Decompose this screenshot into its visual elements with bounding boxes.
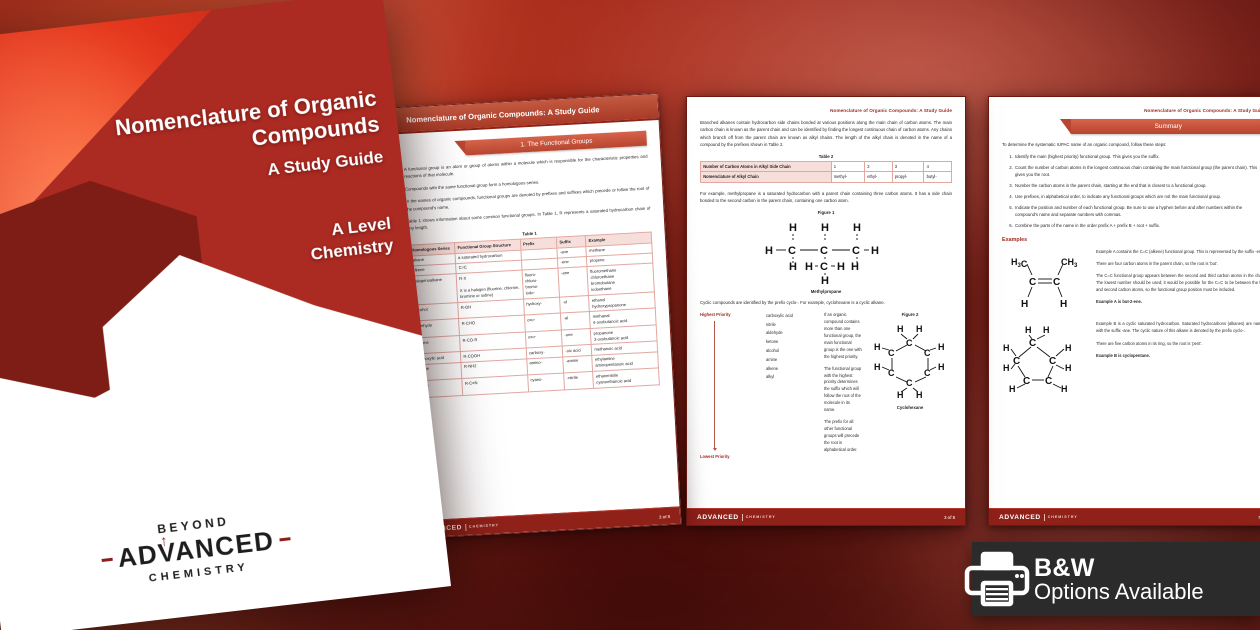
page-number: 2 of 8 bbox=[659, 513, 670, 519]
svg-text:H: H bbox=[916, 324, 923, 334]
footer-logo-divider bbox=[465, 523, 466, 530]
summary-step: Identify the main (highest priority) fun… bbox=[1014, 153, 1260, 160]
svg-text:C: C bbox=[1049, 356, 1056, 367]
example-a-row: H3C CH3 C C H H Example bbox=[1002, 248, 1260, 310]
priority-item: amine bbox=[766, 356, 818, 365]
printer-icon bbox=[964, 550, 1030, 608]
svg-text:H: H bbox=[789, 222, 797, 234]
svg-text:C: C bbox=[888, 368, 895, 378]
table-alkyl-prefixes: Number of Carbon Atoms in Alkyl Side Cha… bbox=[700, 161, 952, 183]
table2-caption: Table 2 bbox=[700, 154, 952, 159]
svg-text:H: H bbox=[789, 261, 797, 273]
footer-logo: ADVANCED CHEMISTRY bbox=[697, 514, 776, 521]
table-cell: 3 bbox=[892, 162, 924, 172]
svg-text:C: C bbox=[906, 378, 913, 388]
footer-logo-sub: CHEMISTRY bbox=[746, 515, 776, 519]
example-b-para: Example B is a cyclic saturated hydrocar… bbox=[1096, 320, 1260, 334]
promo-banner: Nomenclature of Organic Compounds: A Stu… bbox=[0, 0, 1260, 630]
figure2-caption: Figure 2 bbox=[868, 312, 952, 317]
page-number: 3 of 8 bbox=[944, 515, 955, 520]
footer-logo: ADVANCED CHEMISTRY bbox=[999, 514, 1078, 521]
priority-item: nitrile bbox=[766, 321, 818, 330]
priority-item: alkyl bbox=[766, 373, 818, 382]
svg-text:C: C bbox=[1023, 376, 1030, 387]
svg-text:H: H bbox=[1061, 384, 1068, 394]
svg-text:H: H bbox=[851, 261, 859, 273]
table-functional-groups: Homologous Series Functional Group Struc… bbox=[408, 232, 660, 398]
table-cell: cyano- bbox=[527, 373, 564, 391]
svg-text:C: C bbox=[852, 245, 860, 257]
priority-section: Highest Priority Lowest Priority carboxy… bbox=[700, 312, 952, 459]
priority-item: ketone bbox=[766, 338, 818, 347]
summary-step: Count the number of carbon atoms in the … bbox=[1014, 164, 1260, 179]
table-cell: propyl- bbox=[892, 172, 924, 182]
svg-text:H: H bbox=[1065, 343, 1072, 353]
table-cell: -nitrile bbox=[564, 372, 594, 390]
footer-logo-main: ADVANCED bbox=[697, 514, 739, 521]
example-a-para: Example A contains the C=C (alkene) func… bbox=[1096, 248, 1260, 255]
priority-item: aldehyde bbox=[766, 329, 818, 338]
svg-text:H: H bbox=[1065, 363, 1072, 373]
svg-text:H: H bbox=[1003, 343, 1010, 353]
summary-intro: To determine the systematic IUPAC name o… bbox=[1002, 141, 1260, 148]
table-cell: oxo- bbox=[524, 313, 561, 331]
table-cell: -ane bbox=[558, 267, 589, 297]
page-footer: ADVANCED CHEMISTRY 3 of 8 bbox=[687, 508, 965, 525]
table-cell: fluoro- chloro- bromo- iodo- bbox=[522, 268, 560, 299]
example-a-conclusion: Example A is but-2-ene. bbox=[1096, 298, 1260, 305]
document-page-7[interactable]: Nomenclature of Organic Compounds: A Stu… bbox=[988, 96, 1260, 526]
svg-text:H: H bbox=[821, 222, 829, 234]
page-header-title: Nomenclature of Organic Compounds: A Stu… bbox=[1002, 108, 1260, 113]
bw-badge-text: B&W Options Available bbox=[1034, 555, 1204, 604]
svg-text:H: H bbox=[853, 222, 861, 234]
up-arrow-icon: ↑ bbox=[159, 532, 170, 550]
priority-lowest-label: Lowest Priority bbox=[700, 454, 730, 459]
table-cell: R-X X is a halogen (fluorine, chlorine, … bbox=[456, 270, 523, 302]
cyclic-compounds-text: Cyclic compounds are identified by the p… bbox=[700, 299, 952, 306]
svg-text:C: C bbox=[924, 348, 931, 358]
summary-step: Combine the parts of the name in the ord… bbox=[1014, 222, 1260, 229]
priority-para: The functional group with the highest pr… bbox=[824, 366, 862, 415]
table-cell: -al bbox=[561, 312, 591, 330]
figure1-label: Methylpropane bbox=[700, 289, 952, 294]
section-title-functional-groups: 1. The Functional Groups bbox=[466, 131, 647, 156]
table-cell: ethyl- bbox=[865, 172, 892, 182]
svg-text:H: H bbox=[805, 261, 813, 273]
priority-highest-label: Highest Priority bbox=[700, 312, 760, 317]
example-b-row: C C C C C H H H H H bbox=[1002, 320, 1260, 398]
table-cell: amino- bbox=[527, 357, 564, 375]
butene-structure-icon: H3C CH3 C C H H bbox=[1005, 252, 1085, 310]
methylpropane-example-text: For example, methylpropane is a saturate… bbox=[700, 190, 952, 205]
svg-text:H: H bbox=[837, 261, 845, 273]
svg-text:H: H bbox=[1043, 325, 1050, 335]
table-cell: fluoromethane chloroethane bromobutane i… bbox=[587, 263, 654, 295]
footer-logo-sub: CHEMISTRY bbox=[469, 523, 499, 529]
priority-labels-column: Highest Priority Lowest Priority bbox=[700, 312, 760, 459]
footer-logo-divider bbox=[742, 514, 743, 521]
summary-step: Indicate the position and number of each… bbox=[1014, 204, 1260, 219]
svg-text:C: C bbox=[924, 368, 931, 378]
page2-title-text: Nomenclature of Organic Compounds: A Stu… bbox=[406, 105, 600, 124]
priority-para: The prefix for all other functional grou… bbox=[824, 419, 862, 454]
table-row-header: Nomenclature of Alkyl Chain bbox=[701, 172, 832, 182]
summary-step: Number the carbon atoms in the parent ch… bbox=[1014, 182, 1260, 189]
svg-text:C: C bbox=[1045, 376, 1052, 387]
table-cell: oxo- bbox=[525, 330, 562, 348]
example-a-para: There are four carbon atoms in the paren… bbox=[1096, 260, 1260, 267]
figure1-caption: Figure 1 bbox=[700, 210, 952, 215]
svg-text:H: H bbox=[938, 342, 945, 352]
table-row: Number of Carbon Atoms in Alkyl Side Cha… bbox=[701, 162, 952, 172]
svg-text:H: H bbox=[1021, 299, 1028, 310]
cyclohexane-structure-icon: C C C C C C H H H bbox=[870, 320, 950, 400]
table-cell: 4 bbox=[924, 162, 952, 172]
example-a-figure: H3C CH3 C C H H bbox=[1002, 248, 1088, 310]
table-cell: methyl- bbox=[831, 172, 865, 182]
priority-arrow-icon bbox=[714, 321, 715, 450]
example-b-para: There are five carbon atoms in its ring,… bbox=[1096, 340, 1260, 347]
figure2-label: Cyclohexane bbox=[868, 405, 952, 410]
methylpropane-structure-icon: H H H H C C C H H H C bbox=[761, 218, 891, 284]
figure2-block: Figure 2 C C C C C C H bbox=[868, 312, 952, 459]
summary-step: Use prefixes, in alphabetical order, to … bbox=[1014, 193, 1260, 200]
table-body: alkanea saturated hydrocarbon-anemethane… bbox=[409, 243, 659, 398]
svg-text:H3C: H3C bbox=[1011, 257, 1028, 269]
bw-options-badge[interactable]: B&W Options Available bbox=[972, 542, 1260, 616]
table-row-header: Number of Carbon Atoms in Alkyl Side Cha… bbox=[701, 162, 832, 172]
priority-item: alkene bbox=[766, 365, 818, 374]
table-cell: ethanenitrile cyanoethanoic acid bbox=[593, 368, 659, 388]
page-footer: ADVANCED CHEMISTRY 7 of 8 bbox=[989, 508, 1260, 525]
svg-text:C: C bbox=[906, 338, 913, 348]
svg-text:H: H bbox=[938, 362, 945, 372]
svg-text:C: C bbox=[1053, 277, 1060, 288]
table-cell: 1 bbox=[831, 162, 865, 172]
svg-text:H: H bbox=[1025, 325, 1032, 335]
example-b-text: Example B is a cyclic saturated hydrocar… bbox=[1096, 320, 1260, 398]
footer-logo-main: ADVANCED bbox=[999, 514, 1041, 521]
footer-logo-divider bbox=[1044, 514, 1045, 521]
svg-text:C: C bbox=[820, 261, 828, 273]
summary-steps-list: Identify the main (highest priority) fun… bbox=[1014, 153, 1260, 229]
bw-label-secondary: Options Available bbox=[1034, 581, 1204, 604]
example-b-figure: C C C C C H H H H H bbox=[1002, 320, 1088, 398]
table-row: Nomenclature of Alkyl Chain methyl- ethy… bbox=[701, 172, 952, 182]
bw-label-primary: B&W bbox=[1034, 555, 1204, 581]
svg-text:C: C bbox=[888, 348, 895, 358]
page-header-title: Nomenclature of Organic Compounds: A Stu… bbox=[700, 108, 952, 113]
example-b-conclusion: Example B is cyclopentane. bbox=[1096, 352, 1260, 359]
document-page-3[interactable]: Nomenclature of Organic Compounds: A Stu… bbox=[686, 96, 966, 526]
svg-text:H: H bbox=[874, 342, 881, 352]
svg-text:H: H bbox=[1009, 384, 1016, 394]
booklet-cover[interactable]: Nomenclature of Organic Compounds A Stud… bbox=[0, 0, 451, 630]
svg-text:H: H bbox=[874, 362, 881, 372]
svg-text:CH3: CH3 bbox=[1061, 257, 1078, 269]
svg-text:H: H bbox=[821, 275, 829, 284]
table-cell: -one bbox=[561, 328, 591, 346]
table-cell: 2 bbox=[865, 162, 892, 172]
table-cell: hydroxy- bbox=[523, 297, 560, 315]
table-cell: butyl- bbox=[924, 172, 952, 182]
priority-explanation: If an organic compound contains more tha… bbox=[824, 312, 862, 459]
svg-text:H: H bbox=[765, 245, 773, 257]
priority-item: carboxylic acid bbox=[766, 312, 818, 321]
svg-text:H: H bbox=[871, 245, 879, 257]
branched-alkanes-intro: Branched alkanes contain hydrocarbon sid… bbox=[700, 119, 952, 149]
table-cell: R-C≡N bbox=[462, 375, 528, 395]
table-cell: -ol bbox=[560, 295, 590, 313]
svg-text:C: C bbox=[820, 245, 828, 257]
cyclopentane-structure-icon: C C C C C H H H H H bbox=[1003, 324, 1087, 398]
footer-logo-sub: CHEMISTRY bbox=[1048, 515, 1078, 519]
table-cell: -amine bbox=[563, 355, 593, 373]
priority-list: carboxylic acid nitrile aldehyde ketone … bbox=[766, 312, 818, 459]
priority-para: If an organic compound contains more tha… bbox=[824, 312, 862, 361]
svg-text:C: C bbox=[1029, 277, 1036, 288]
section-title-summary: Summary bbox=[1071, 119, 1260, 134]
example-a-text: Example A contains the C=C (alkene) func… bbox=[1096, 248, 1260, 310]
svg-text:H: H bbox=[1060, 299, 1067, 310]
svg-text:C: C bbox=[788, 245, 796, 257]
example-a-para: The C=C functional group appears between… bbox=[1096, 272, 1260, 293]
svg-text:H: H bbox=[1003, 363, 1010, 373]
svg-text:H: H bbox=[897, 324, 904, 334]
examples-heading: Examples bbox=[1002, 237, 1260, 243]
logo-dash-right bbox=[279, 537, 291, 541]
priority-item: alcohol bbox=[766, 347, 818, 356]
logo-dash-left bbox=[102, 558, 114, 562]
